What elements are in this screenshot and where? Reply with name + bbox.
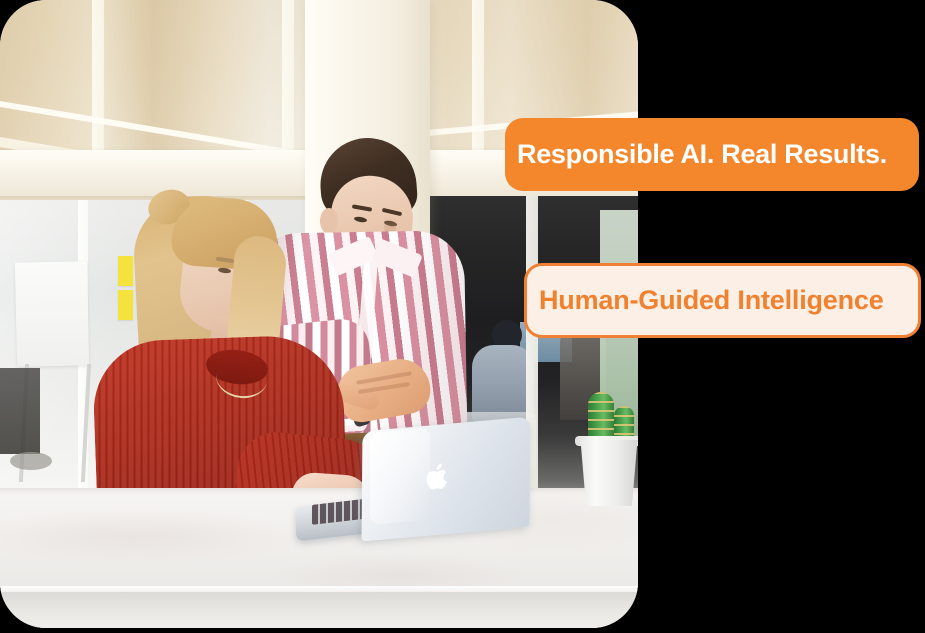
apple-logo-icon (424, 461, 452, 494)
badge-human-guided[interactable]: Human-Guided Intelligence (524, 263, 921, 338)
desk-front-edge (0, 592, 638, 628)
badge-responsible-ai[interactable]: Responsible AI. Real Results. (505, 118, 919, 191)
badge-responsible-ai-label: Responsible AI. Real Results. (517, 139, 887, 170)
page-root: Responsible AI. Real Results. Human-Guid… (0, 0, 925, 633)
background-chair-base (10, 452, 52, 470)
flipchart-board (15, 261, 89, 366)
background-dark-furniture (0, 368, 40, 454)
man-ear (320, 208, 338, 234)
sticky-note (118, 290, 133, 320)
badge-human-guided-label: Human-Guided Intelligence (539, 285, 884, 316)
sticky-note (118, 256, 133, 286)
laptop-lid-reflection (370, 427, 430, 525)
plant-pot (578, 440, 638, 506)
